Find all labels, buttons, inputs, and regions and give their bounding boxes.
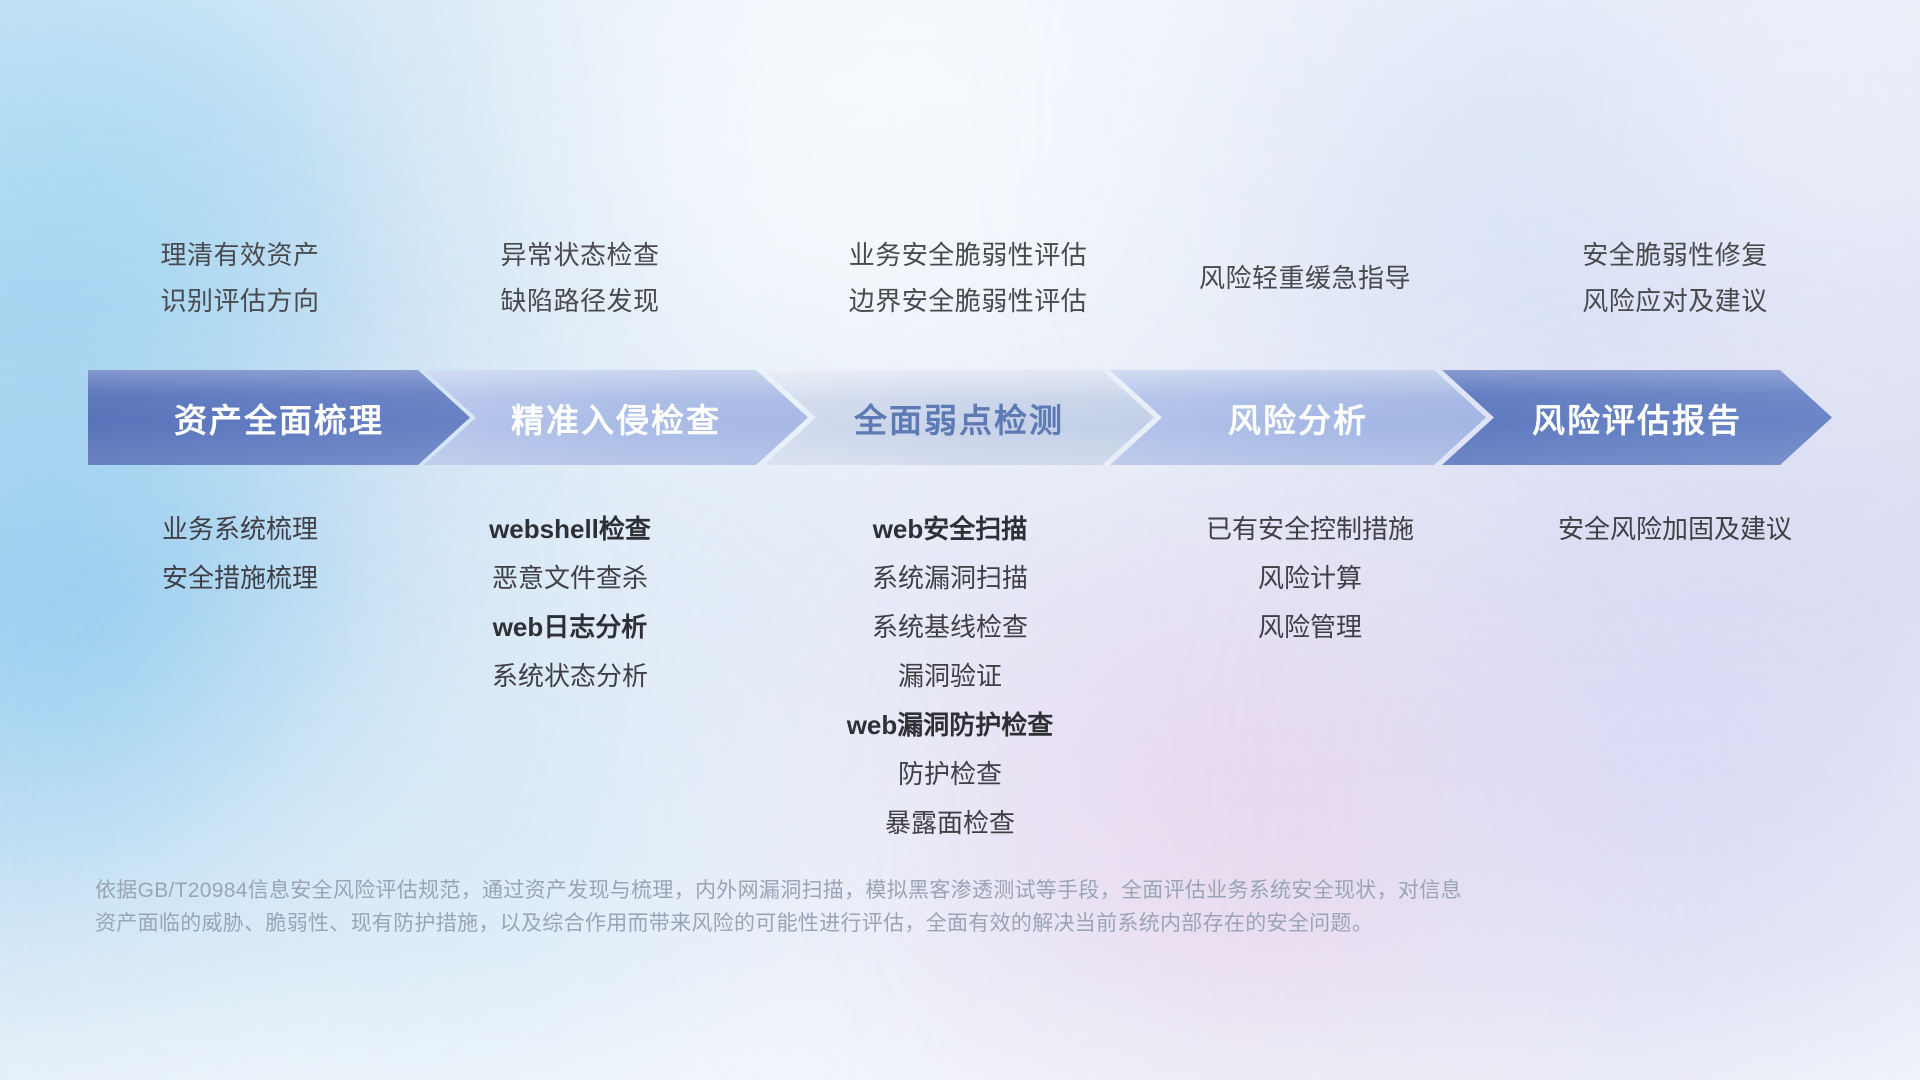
task-item: web安全扫描	[735, 505, 1165, 554]
chevron-stage-1[interactable]: 资产全面梳理	[88, 370, 470, 465]
stage-tasks-4: 已有安全控制措施 风险计算 风险管理	[1110, 505, 1510, 652]
chevron-label: 资产全面梳理	[174, 394, 384, 442]
outcome-text: 理清有效资产	[50, 232, 430, 278]
task-item: web漏洞防护检查	[735, 701, 1165, 750]
stage-tasks-1: 业务系统梳理 安全措施梳理	[50, 505, 430, 603]
stage-tasks-5: 安全风险加固及建议	[1455, 505, 1895, 554]
footer-description: 依据GB/T20984信息安全风险评估规范，通过资产发现与梳理，内外网漏洞扫描，…	[95, 874, 1655, 940]
process-chevron-band: 资产全面梳理 精准入侵检查 全面弱点检测 风险分析 风险评估报告	[88, 370, 1832, 465]
task-item: 安全风险加固及建议	[1455, 505, 1895, 554]
stage-tasks-3: web安全扫描 系统漏洞扫描 系统基线检查 漏洞验证 web漏洞防护检查 防护检…	[735, 505, 1165, 848]
outcome-text: 风险轻重缓急指导	[1105, 255, 1505, 301]
task-item: 暴露面检查	[735, 799, 1165, 848]
stage-outcomes-1: 理清有效资产 识别评估方向	[50, 232, 430, 324]
outcome-text: 异常状态检查	[390, 232, 770, 278]
task-item: 风险计算	[1110, 554, 1510, 603]
footer-line-1: 依据GB/T20984信息安全风险评估规范，通过资产发现与梳理，内外网漏洞扫描，…	[95, 874, 1655, 907]
stage-outcomes-4: 风险轻重缓急指导	[1105, 255, 1505, 301]
stage-outcomes-5: 安全脆弱性修复 风险应对及建议	[1475, 232, 1875, 324]
task-item: 风险管理	[1110, 603, 1510, 652]
stage-outcomes-2: 异常状态检查 缺陷路径发现	[390, 232, 770, 324]
outcome-text: 缺陷路径发现	[390, 278, 770, 324]
outcome-text: 识别评估方向	[50, 278, 430, 324]
chevron-stage-4[interactable]: 风险分析	[1110, 370, 1486, 465]
task-item: webshell检查	[375, 505, 765, 554]
outcome-text: 安全脆弱性修复	[1475, 232, 1875, 278]
task-item: 系统漏洞扫描	[735, 554, 1165, 603]
task-item: 防护检查	[735, 750, 1165, 799]
task-item: 恶意文件查杀	[375, 554, 765, 603]
task-item: 安全措施梳理	[50, 554, 430, 603]
chevron-stage-3[interactable]: 全面弱点检测	[764, 370, 1154, 465]
chevron-stage-2[interactable]: 精准入侵检查	[424, 370, 808, 465]
chevron-label: 风险评估报告	[1532, 394, 1742, 442]
footer-line-2: 资产面临的威胁、脆弱性、现有防护措施，以及综合作用而带来风险的可能性进行评估，全…	[95, 907, 1655, 940]
task-item: 已有安全控制措施	[1110, 505, 1510, 554]
task-item: 系统基线检查	[735, 603, 1165, 652]
process-diagram: 理清有效资产 识别评估方向 异常状态检查 缺陷路径发现 业务安全脆弱性评估 边界…	[0, 0, 1920, 1080]
chevron-label: 全面弱点检测	[854, 394, 1064, 442]
task-item: 系统状态分析	[375, 652, 765, 701]
task-item: web日志分析	[375, 603, 765, 652]
task-item: 漏洞验证	[735, 652, 1165, 701]
outcome-text: 风险应对及建议	[1475, 278, 1875, 324]
stage-tasks-2: webshell检查 恶意文件查杀 web日志分析 系统状态分析	[375, 505, 765, 701]
chevron-stage-5[interactable]: 风险评估报告	[1442, 370, 1832, 465]
task-item: 业务系统梳理	[50, 505, 430, 554]
chevron-label: 风险分析	[1228, 394, 1368, 442]
chevron-label: 精准入侵检查	[511, 394, 721, 442]
